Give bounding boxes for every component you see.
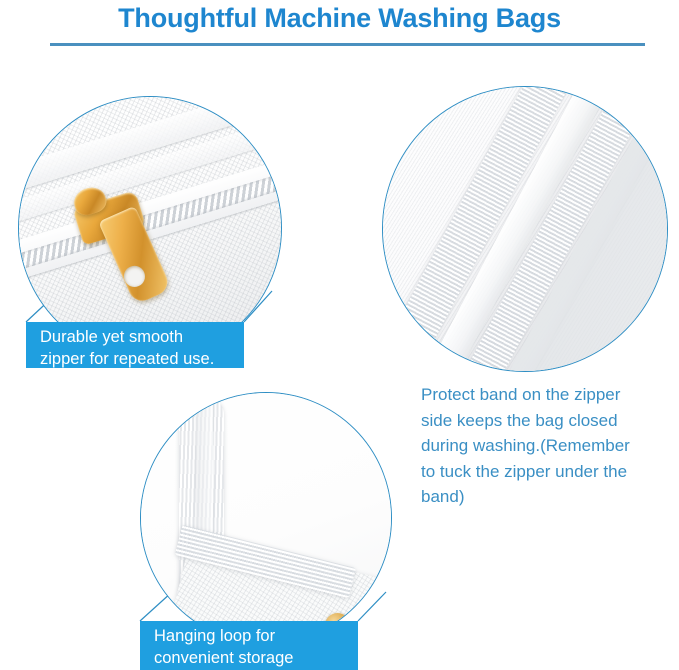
page-title: Thoughtful Machine Washing Bags	[0, 1, 679, 35]
feature-image-hanging-loop	[140, 392, 392, 644]
callout-hanging-loop: Hanging loop for convenient storage	[140, 621, 358, 670]
header: Thoughtful Machine Washing Bags	[0, 0, 679, 52]
feature-image-protect-band	[382, 86, 668, 372]
callout-protect-band: Protect band on the zipper side keeps th…	[421, 382, 679, 510]
callout-zipper: Durable yet smooth zipper for repeated u…	[26, 322, 244, 368]
feature-image-zipper	[18, 96, 282, 360]
title-underline-divider	[50, 43, 645, 46]
